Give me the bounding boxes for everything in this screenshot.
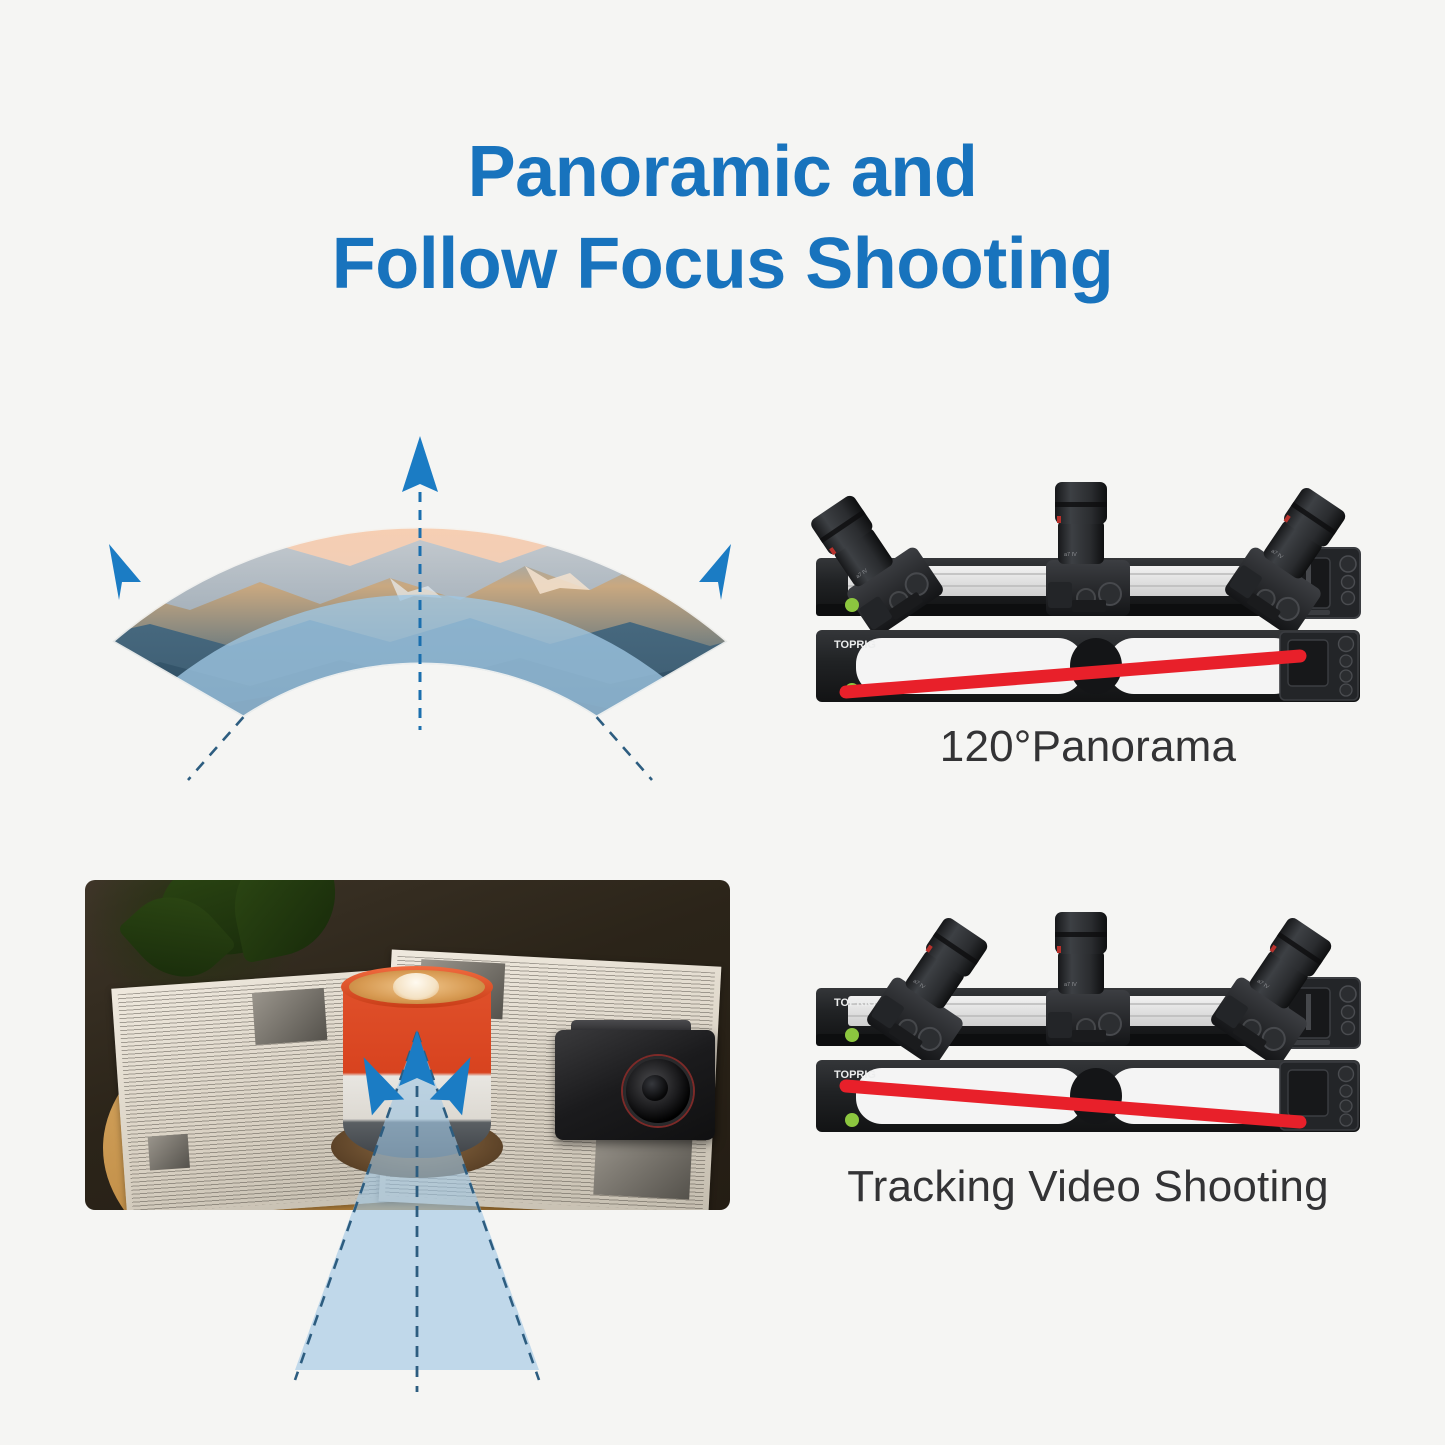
plan-rail-pivot (1070, 1068, 1122, 1124)
newspaper-photo (593, 1131, 692, 1200)
follow-focus-diagram (85, 880, 735, 1400)
tracking-rig-plan-view: TOPRIG (816, 1060, 1360, 1132)
vintage-camera-lens (623, 1056, 693, 1126)
pano-convergence-line-right (597, 717, 652, 780)
pano-arrow-left (109, 544, 141, 600)
pano-arrow-center (402, 436, 438, 492)
brand-logo-perspective: TOPRIG (834, 997, 876, 1009)
page-title: Panoramic and Follow Focus Shooting (0, 126, 1445, 310)
brand-logo-plan: TOPRIG (834, 639, 876, 651)
tracking-caption: Tracking Video Shooting (798, 1162, 1378, 1212)
tracking-rig-perspective-view: TOPRIG (816, 910, 1360, 1068)
power-led (845, 598, 859, 612)
newspaper-photo (148, 1134, 190, 1171)
panoramic-fan-diagram (70, 380, 770, 820)
newspaper-photo (252, 988, 327, 1045)
panorama-rig-svg: a7 IV (808, 440, 1368, 710)
page-title-line-1: Panoramic and (0, 126, 1445, 218)
power-led (845, 1028, 859, 1042)
panorama-rig-perspective-view (808, 480, 1367, 638)
panorama-rig-plan-view: TOPRIG (816, 630, 1360, 702)
motor-control-head-plan[interactable] (1280, 632, 1358, 700)
follow-focus-photo (85, 880, 730, 1210)
latte-art (393, 973, 439, 1000)
power-led-plan (845, 1113, 859, 1127)
tracking-rig-svg: TOPRIG TOPRIG (808, 870, 1368, 1140)
panorama-caption: 120°Panorama (808, 722, 1368, 772)
panorama-rig: a7 IV (808, 440, 1368, 710)
brand-logo-plan: TOPRIG (834, 1069, 876, 1081)
page-title-line-2: Follow Focus Shooting (0, 218, 1445, 310)
camera-center (1046, 482, 1130, 616)
pano-fan-svg (70, 380, 770, 820)
pano-convergence-line-left (188, 717, 243, 780)
pano-arrow-right (699, 544, 731, 600)
tracking-rig: TOPRIG TOPRIG (808, 870, 1368, 1140)
camera-center (1046, 912, 1130, 1046)
